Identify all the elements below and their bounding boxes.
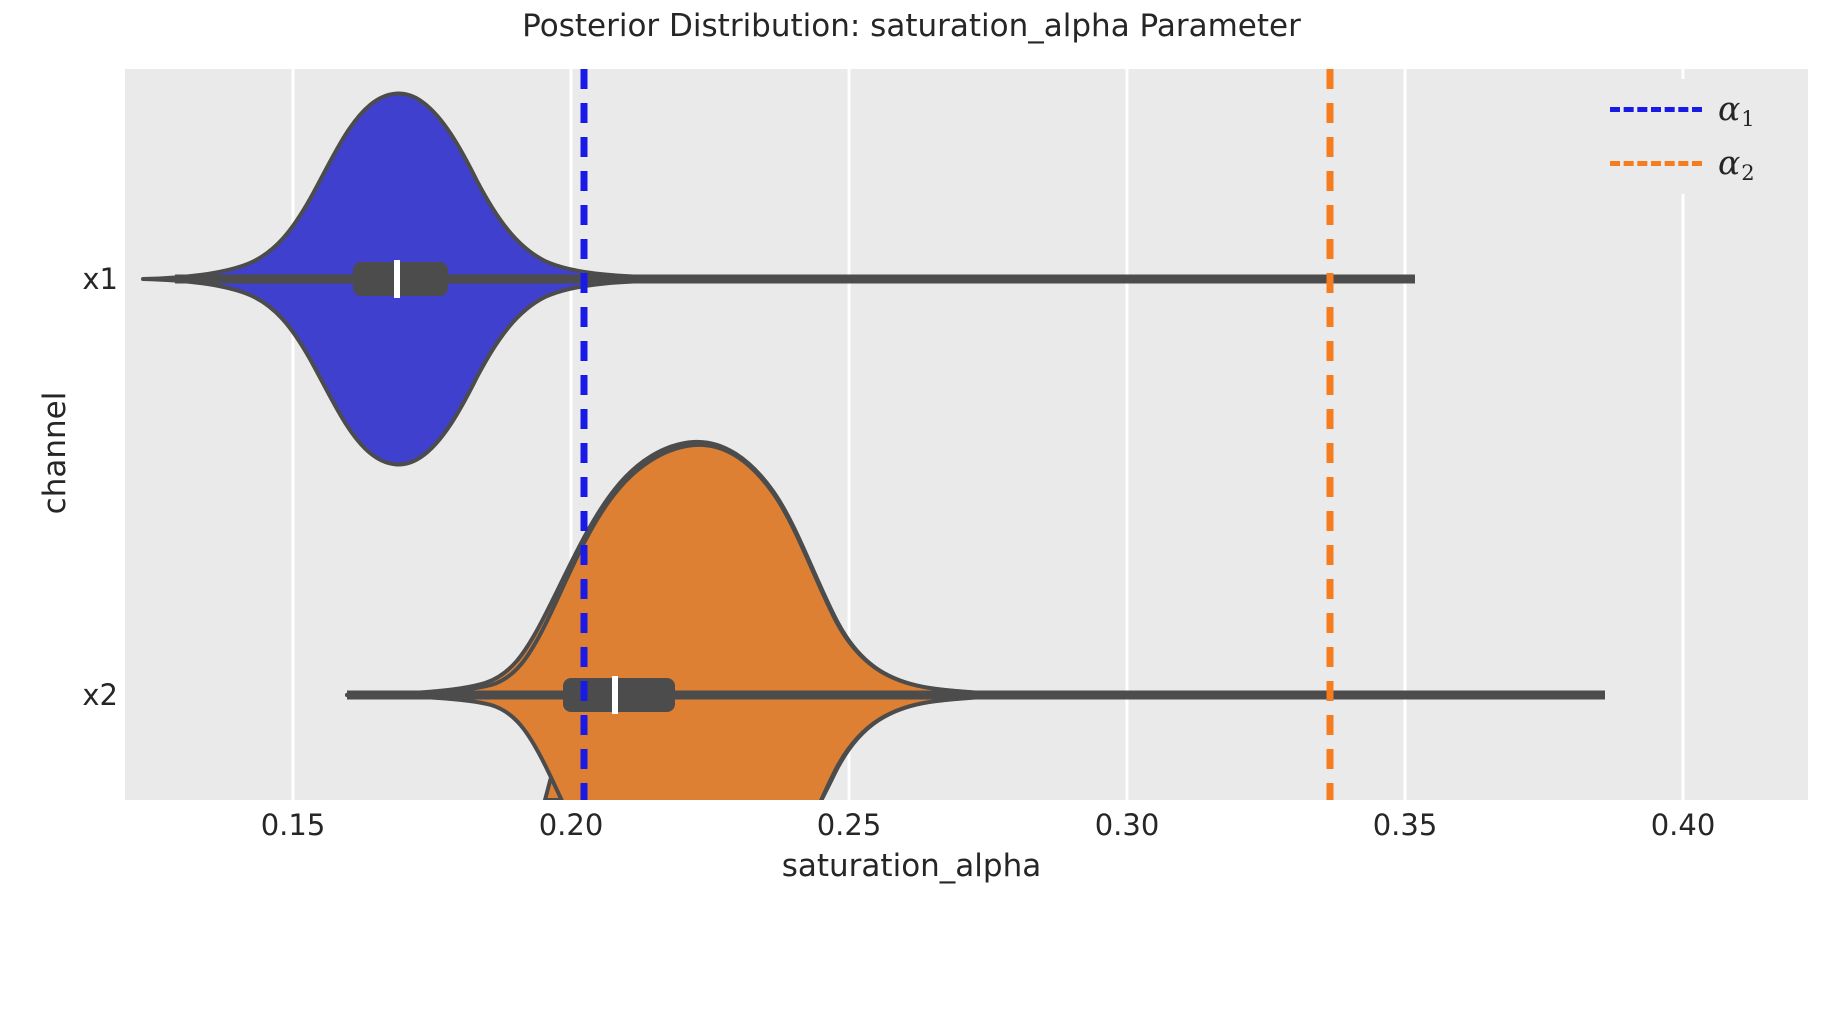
violin-x2-box [563,678,675,712]
legend-item-alpha2: α2 [1594,141,1808,189]
plot-area [125,69,1808,800]
ytick-label-x1: x1 [0,262,118,296]
xtick-label-3: 0.30 [1037,808,1217,842]
violin-x2-body [347,442,1525,800]
legend-label-alpha1: α1 [1718,89,1754,128]
violin-x1-box [353,262,448,296]
legend-swatch-alpha2-dashed-line [1610,161,1702,166]
legend-swatch-alpha1-dashed-line [1610,107,1702,112]
page-title: Posterior Distribution: saturation_alpha… [0,8,1823,44]
y-axis-label: channel [37,303,73,603]
xtick-label-4: 0.35 [1315,808,1495,842]
xtick-label-1: 0.20 [481,808,661,842]
xtick-label-5: 0.40 [1593,808,1773,842]
xtick-label-0: 0.15 [203,808,383,842]
ytick-label-x2: x2 [0,678,118,712]
x-axis-label: saturation_alpha [0,848,1823,884]
xtick-label-2: 0.25 [759,808,939,842]
legend: α1 α2 [1594,79,1808,194]
violin-x2 [347,442,1605,800]
violin-plot-svg [125,69,1808,800]
legend-label-alpha2: α2 [1718,143,1754,182]
violin-chart-figure: Posterior Distribution: saturation_alpha… [0,0,1823,1023]
violin-x1 [143,94,1415,465]
legend-item-alpha1: α1 [1594,87,1808,135]
